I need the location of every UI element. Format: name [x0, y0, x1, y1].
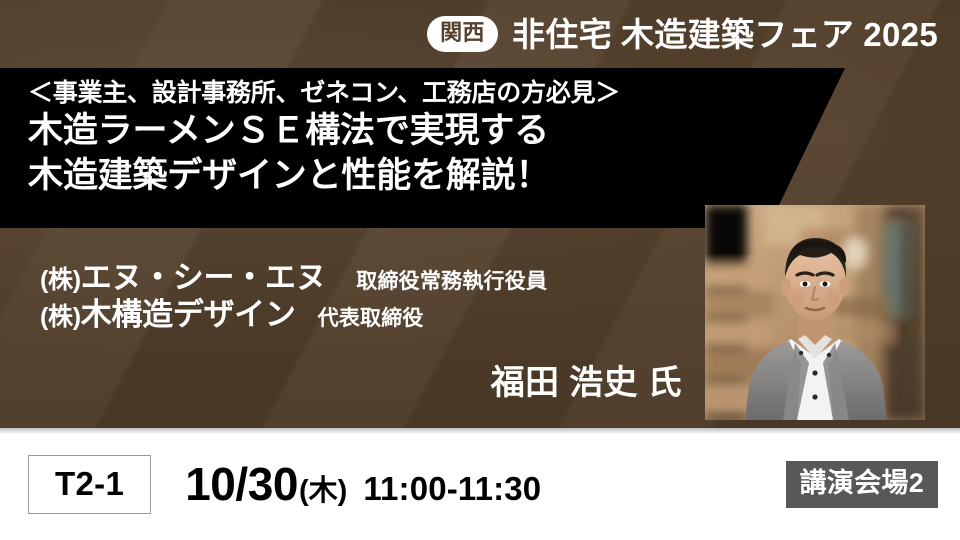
region-badge: 関西	[427, 16, 498, 52]
event-title-part2: 木造建築フェア	[621, 16, 854, 53]
speaker-org-1-label: エヌ・シー・エヌ	[81, 260, 327, 295]
headline-banner: ＜事業主、設計事務所、ゼネコン、工務店の方必見＞ 木造ラーメンＳＥ構法で実現する…	[0, 68, 845, 228]
event-title-year: 2025	[863, 16, 938, 53]
speaker-org-1-name: (株)エヌ・シー・エヌ	[40, 260, 326, 297]
speaker-org-2-label: 木構造デザイン	[81, 297, 296, 332]
speaker-org-row-2: (株)木構造デザイン 代表取締役	[40, 297, 700, 334]
session-code-badge: T2-1	[28, 455, 151, 514]
session-weekday: (木)	[299, 477, 347, 506]
speaker-photo	[705, 205, 925, 420]
footer-bar: T2-1 10/30 (木) 11:00-11:30 講演会場2	[0, 428, 960, 540]
speaker-org-2-title: 代表取締役	[318, 307, 424, 332]
speaker-portrait-image	[705, 205, 925, 420]
headline-kicker: ＜事業主、設計事務所、ゼネコン、工務店の方必見＞	[28, 77, 845, 109]
headline-line-1: 木造ラーメンＳＥ構法で実現する	[28, 109, 845, 154]
session-time: 11:00-11:30	[363, 472, 541, 505]
speaker-org-2-corp: (株)	[40, 303, 81, 331]
speaker-person-name: 福田 浩史 氏	[40, 355, 700, 404]
seminar-poster: 関西 非住宅木造建築フェア2025 ＜事業主、設計事務所、ゼネコン、工務店の方必…	[0, 0, 960, 540]
session-date: 10/30	[185, 461, 298, 507]
header-bar: 関西 非住宅木造建築フェア2025	[0, 0, 960, 68]
session-schedule: 10/30 (木) 11:00-11:30	[185, 461, 541, 507]
event-title-part1: 非住宅	[512, 16, 612, 53]
headline-line-2: 木造建築デザインと性能を解説！	[28, 154, 845, 199]
venue-badge: 講演会場2	[786, 461, 938, 508]
speaker-org-2-name: (株)木構造デザイン	[40, 297, 296, 334]
event-title: 非住宅木造建築フェア2025	[512, 18, 938, 51]
speaker-org-1-title: 取締役常務執行役員	[356, 270, 547, 295]
speaker-org-row-1: (株)エヌ・シー・エヌ 取締役常務執行役員	[40, 260, 700, 297]
speaker-org-1-corp: (株)	[40, 266, 81, 294]
speaker-block: (株)エヌ・シー・エヌ 取締役常務執行役員 (株)木構造デザイン 代表取締役 福…	[0, 232, 700, 428]
